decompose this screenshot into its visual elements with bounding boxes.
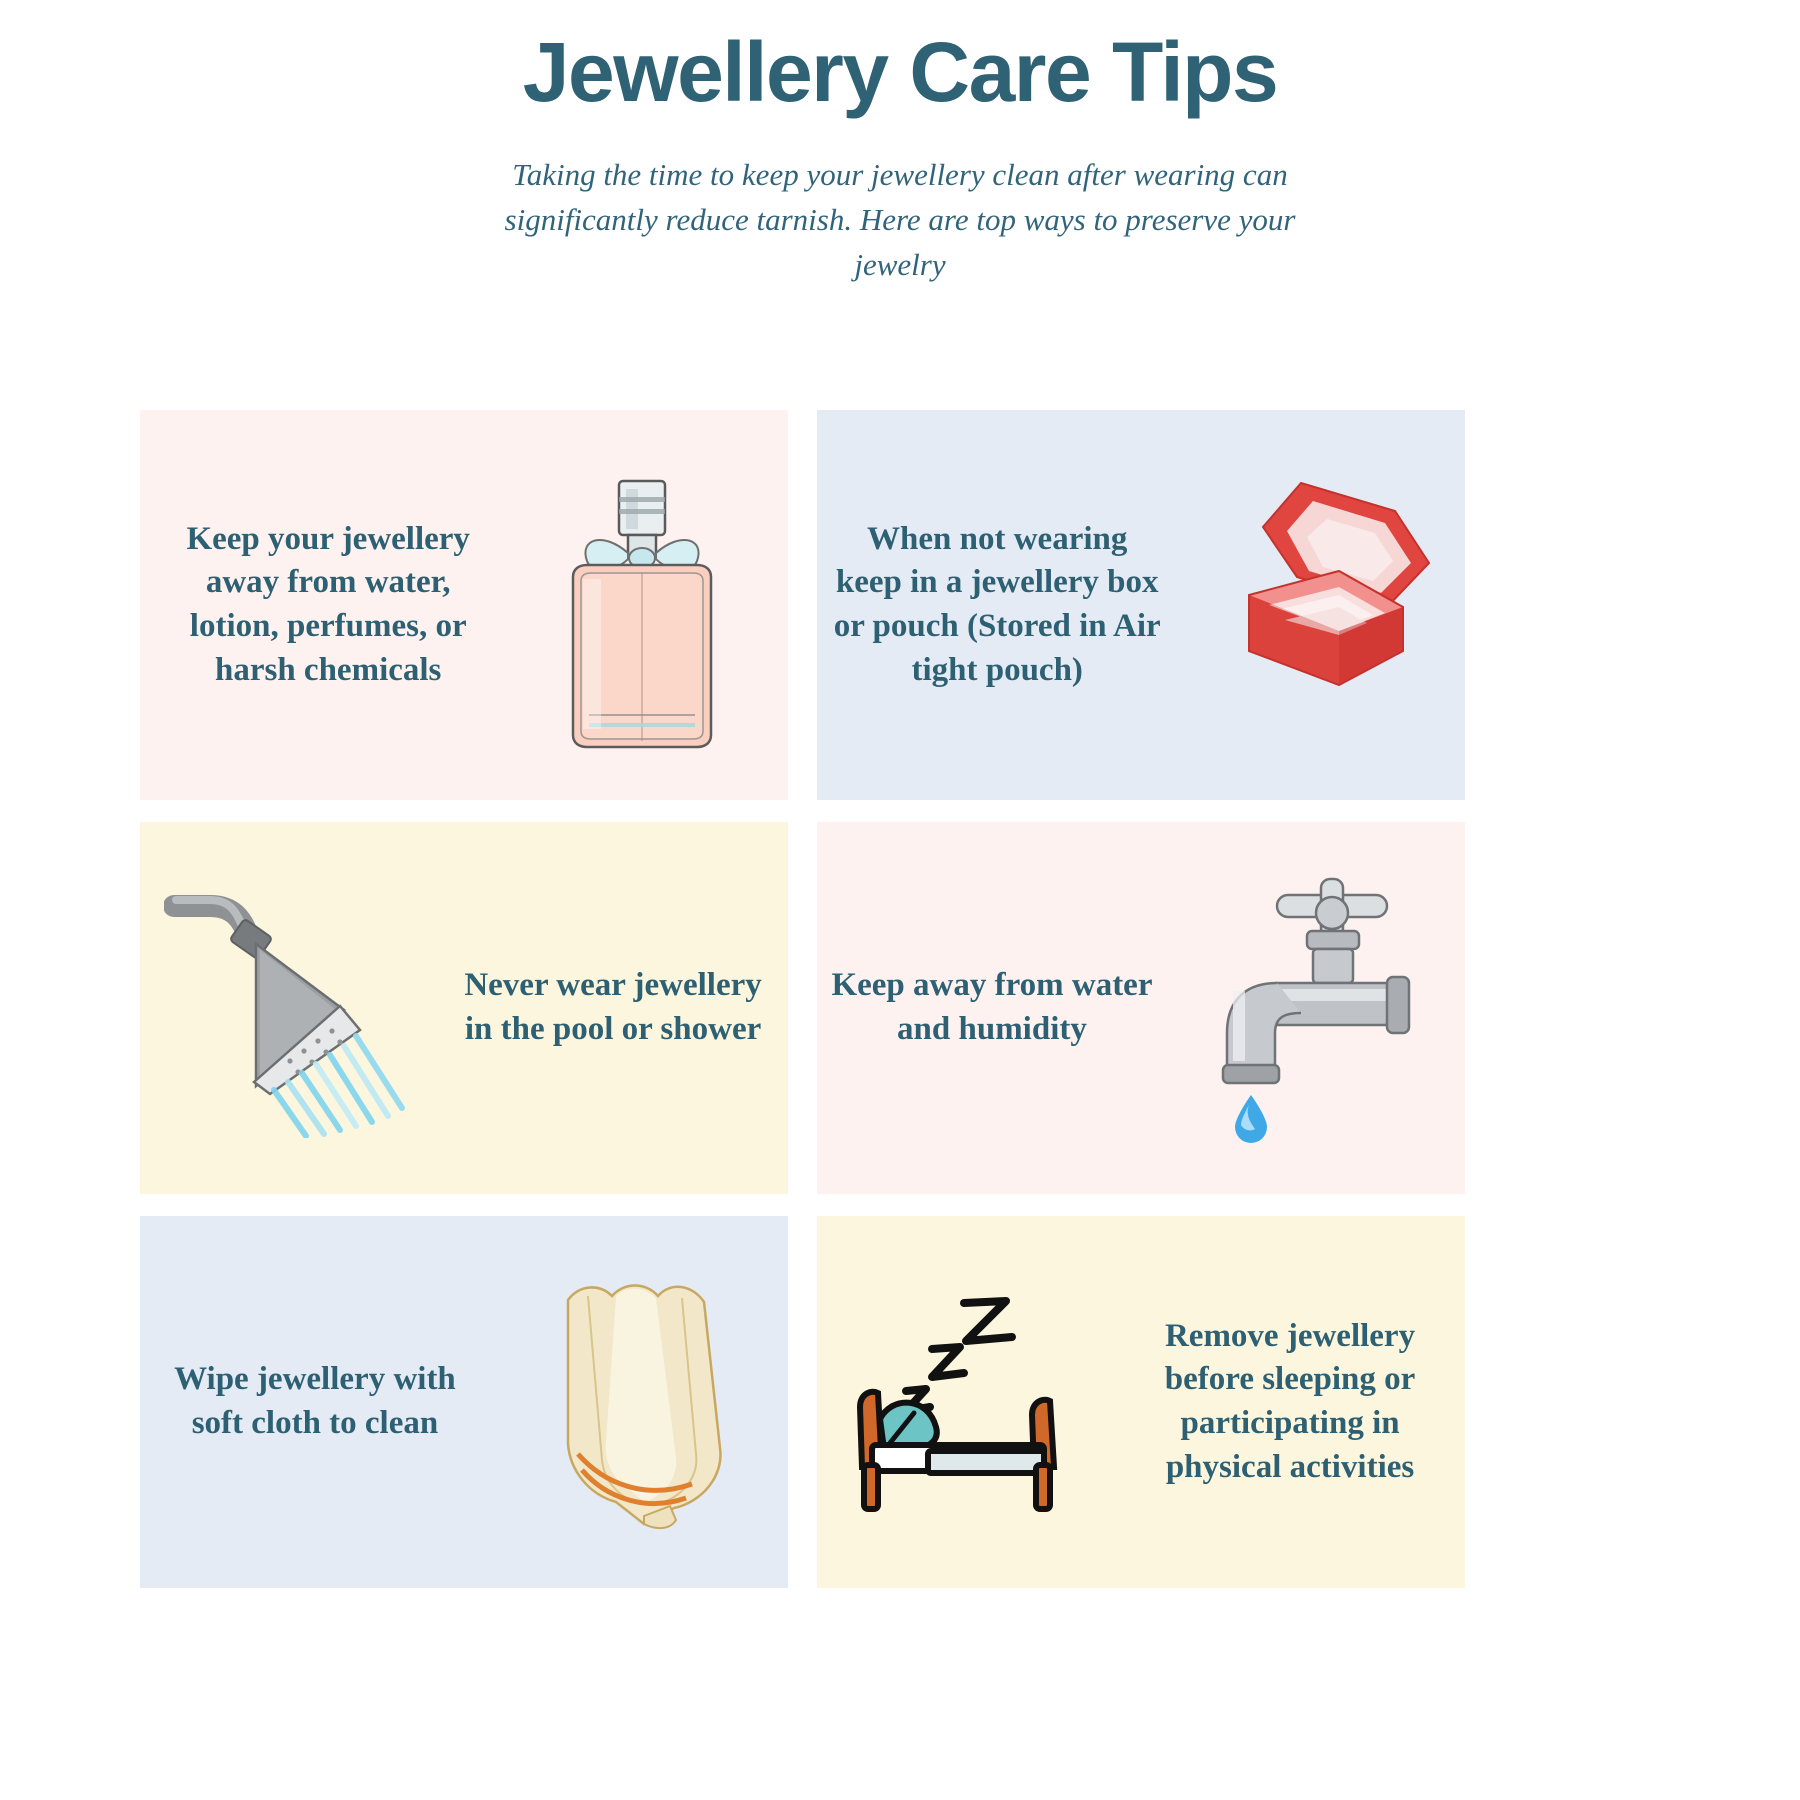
tip-card-storage: When not wearing keep in a jewellery box… [817,410,1465,800]
tip-illustration [496,410,788,800]
tip-card-humidity: Keep away from water and humidity [817,822,1465,1194]
tip-illustration [140,822,438,1194]
page-subtitle: Taking the time to keep your jewellery c… [500,153,1300,288]
shower-head-icon [164,878,414,1138]
cloth-icon [524,1262,754,1542]
page-title: Jewellery Care Tips [0,28,1800,117]
faucet-icon [1191,873,1441,1143]
header: Jewellery Care Tips Taking the time to k… [0,0,1800,288]
tip-text: When not wearing keep in a jewellery box… [817,518,1173,692]
bed-sleeping-icon [836,1287,1096,1517]
tip-text: Keep away from water and humidity [817,964,1167,1051]
tip-card-sleep: Remove jewellery before sleeping or part… [817,1216,1465,1588]
tip-text: Keep your jewellery away from water, lot… [140,518,496,692]
tip-card-chemicals: Keep your jewellery away from water, lot… [140,410,788,800]
tip-text: Remove jewellery before sleeping or part… [1115,1315,1465,1489]
tip-card-shower: Never wear jewellery in the pool or show… [140,822,788,1194]
tips-grid: Keep your jewellery away from water, lot… [140,410,1465,1588]
tip-illustration [490,1216,788,1588]
tip-text: Wipe jewellery with soft cloth to clean [140,1358,490,1445]
jewellery-box-icon [1189,475,1449,725]
tip-text: Never wear jewellery in the pool or show… [438,964,788,1051]
tip-illustration [1173,410,1465,800]
tip-card-wipe: Wipe jewellery with soft cloth to clean [140,1216,788,1588]
tip-illustration [1167,822,1465,1194]
infographic-page: Jewellery Care Tips Taking the time to k… [0,0,1800,1800]
tip-illustration [817,1216,1115,1588]
perfume-bottle-icon [527,469,757,759]
